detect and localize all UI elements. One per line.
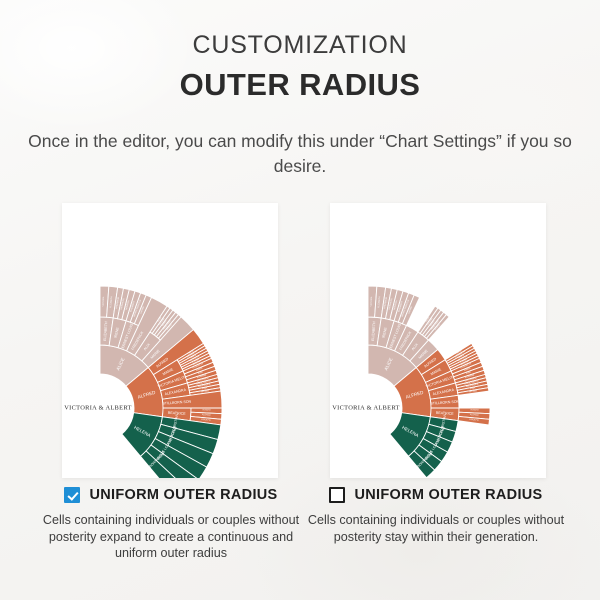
slide-root: CUSTOMIZATION OUTER RADIUS Once in the e… [0,0,600,600]
fan-chart-card-uniform[interactable]: VICTORIA & ALBERTALICEELIZABETHVICTORIAE… [62,203,278,478]
fan-chart-nonuniform: VICTORIA & ALBERTALICEELIZABETHVICTORIAE… [330,203,546,478]
kicker-text: CUSTOMIZATION [0,31,600,60]
fan-cell-label: VICTORIA [102,296,105,306]
option-uniform-off[interactable]: UNIFORM OUTER RADIUS Cells containing in… [305,487,567,545]
page-title: OUTER RADIUS [0,67,600,103]
option-description: Cells containing individuals or couples … [305,512,567,545]
root-label: VICTORIA & ALBERT [332,405,399,412]
option-description: Cells containing individuals or couples … [40,512,302,562]
fan-cell-label: ALVARO [470,408,479,411]
fan-cell-label: ALVARO [202,408,211,411]
fan-cell-label: VICTORIA [370,296,373,306]
option-row[interactable]: UNIFORM OUTER RADIUS [40,487,302,503]
checkbox-uniform-off[interactable] [329,487,345,503]
fan-chart-uniform: VICTORIA & ALBERTALICEELIZABETHVICTORIAE… [62,203,278,478]
fan-cell-label: ALONSO [202,413,211,417]
option-row[interactable]: UNIFORM OUTER RADIUS [305,487,567,503]
fan-cell-label: ALONSO [470,413,479,417]
root-label: VICTORIA & ALBERT [64,405,131,412]
option-uniform-on[interactable]: UNIFORM OUTER RADIUS Cells containing in… [40,487,302,562]
fan-group: VICTORIA & ALBERTALICEELIZABETHVICTORIAE… [332,286,490,478]
checkbox-uniform-on[interactable] [64,487,80,503]
fan-group: VICTORIA & ALBERTALICEELIZABETHVICTORIAE… [64,286,222,478]
option-label: UNIFORM OUTER RADIUS [89,487,277,503]
fan-chart-card-nonuniform[interactable]: VICTORIA & ALBERTALICEELIZABETHVICTORIAE… [330,203,546,478]
option-label: UNIFORM OUTER RADIUS [354,487,542,503]
subtitle-text: Once in the editor, you can modify this … [0,129,600,179]
